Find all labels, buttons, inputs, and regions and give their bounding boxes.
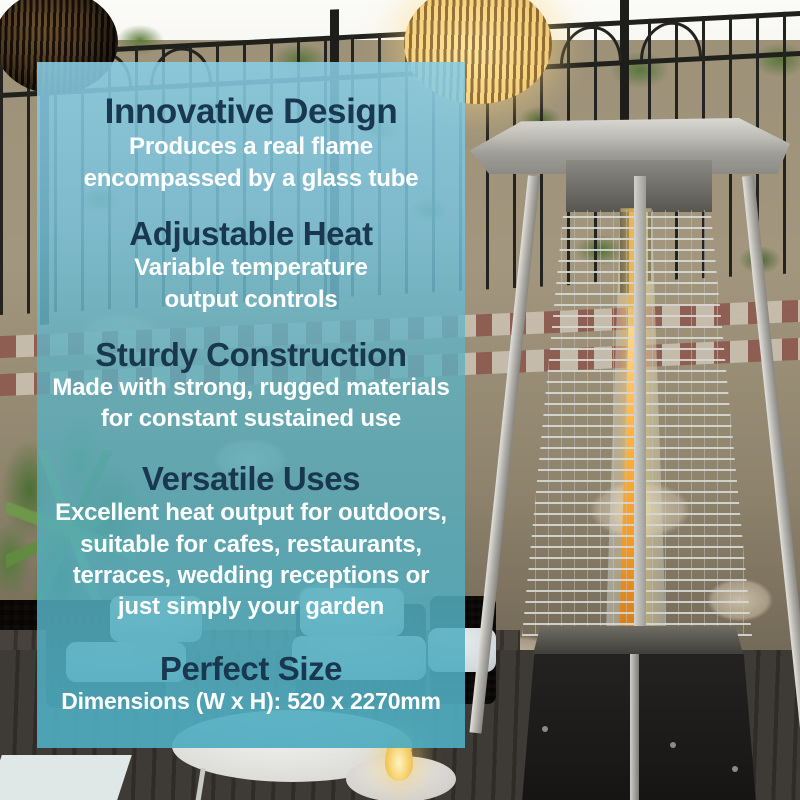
cabinet-screw <box>732 766 738 772</box>
pyramid-patio-heater <box>470 26 800 800</box>
cabinet-seam <box>630 654 639 800</box>
feature-line: Variable temperature <box>37 254 465 282</box>
feature-block-innovative-design: Innovative Design Produces a real flame … <box>37 94 465 193</box>
feature-line: for constant sustained use <box>37 405 465 433</box>
cabinet-screw <box>670 742 676 748</box>
feature-line: terraces, wedding receptions or <box>37 562 465 590</box>
feature-block-sturdy-construction: Sturdy Construction Made with strong, ru… <box>37 338 465 433</box>
heater-leg-left <box>469 175 539 733</box>
feature-line: Produces a real flame <box>37 133 465 161</box>
heater-leg-right <box>742 175 800 733</box>
feature-heading: Versatile Uses <box>37 462 465 496</box>
product-feature-graphic: Innovative Design Produces a real flame … <box>0 0 800 800</box>
feature-line: just simply your garden <box>37 593 465 621</box>
feature-overlay-panel: Innovative Design Produces a real flame … <box>37 62 465 748</box>
feature-block-versatile-uses: Versatile Uses Excellent heat output for… <box>37 462 465 622</box>
deck-mat <box>0 755 132 800</box>
feature-heading: Innovative Design <box>37 94 465 130</box>
heater-center-post <box>634 176 646 646</box>
feature-heading: Adjustable Heat <box>37 217 465 251</box>
feature-heading: Sturdy Construction <box>37 338 465 372</box>
feature-heading: Perfect Size <box>37 652 465 686</box>
feature-line: Excellent heat output for outdoors, <box>37 499 465 527</box>
feature-line: suitable for cafes, restaurants, <box>37 531 465 559</box>
feature-line: Made with strong, rugged materials <box>37 374 465 402</box>
cabinet-screw <box>542 726 548 732</box>
feature-block-adjustable-heat: Adjustable Heat Variable temperature out… <box>37 217 465 314</box>
heater-base-cabinet <box>520 654 758 800</box>
dimensions-text: Dimensions (W x H): 520 x 2270mm <box>37 688 465 715</box>
feature-block-perfect-size: Perfect Size Dimensions (W x H): 520 x 2… <box>37 652 465 715</box>
feature-line: encompassed by a glass tube <box>37 165 465 193</box>
feature-line: output controls <box>37 286 465 314</box>
